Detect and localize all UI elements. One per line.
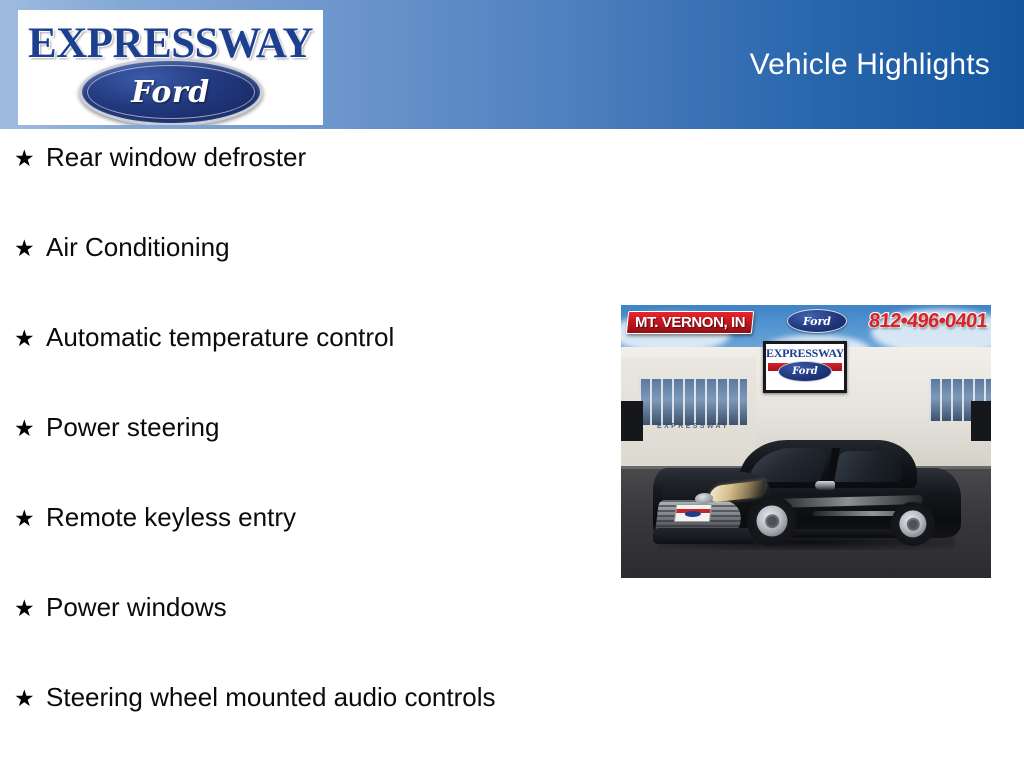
star-bullet-icon: ★ bbox=[14, 597, 46, 620]
photo-phone-number: 812•496•0401 bbox=[868, 310, 988, 333]
feature-label: Steering wheel mounted audio controls bbox=[46, 684, 496, 710]
photo-vehicle-car bbox=[653, 428, 961, 546]
photo-city-banner: MT. VERNON, IN bbox=[626, 311, 755, 334]
page-title: Vehicle Highlights bbox=[750, 48, 990, 82]
photo-roof-ford-oval-icon: Ford bbox=[787, 309, 847, 333]
ford-oval-label: Ford bbox=[82, 61, 260, 123]
car-license-plate bbox=[674, 504, 712, 522]
car-front-rim bbox=[757, 506, 788, 537]
car-rocker-panel bbox=[777, 529, 899, 538]
photo-building-doorway bbox=[971, 401, 991, 441]
car-rear-window bbox=[833, 451, 905, 482]
photo-window-mullions bbox=[639, 379, 747, 425]
feature-label: Remote keyless entry bbox=[46, 504, 296, 530]
vehicle-highlights-list: ★ Rear window defroster ★ Air Conditioni… bbox=[0, 144, 620, 774]
feature-label: Rear window defroster bbox=[46, 144, 306, 170]
list-item: ★ Power steering bbox=[0, 414, 620, 504]
car-rear-rim bbox=[899, 510, 926, 537]
star-bullet-icon: ★ bbox=[14, 687, 46, 710]
photo-dealer-sign-ford-oval-icon: Ford bbox=[778, 361, 832, 382]
feature-label: Power steering bbox=[46, 414, 219, 440]
photo-building-doorway bbox=[621, 401, 643, 441]
vehicle-photo[interactable]: EXPRESSWAY Ford EXPRESSWAY Ford bbox=[621, 305, 991, 578]
photo-city-banner-label: MT. VERNON, IN bbox=[635, 314, 745, 331]
ford-oval-icon: Ford bbox=[79, 58, 263, 125]
photo-dealer-sign-ford-label: Ford bbox=[779, 362, 831, 381]
list-item: ★ Automatic temperature control bbox=[0, 324, 620, 414]
photo-dealer-sign: EXPRESSWAY Ford bbox=[763, 341, 847, 393]
car-front-wheel bbox=[747, 496, 797, 546]
star-bullet-icon: ★ bbox=[14, 147, 46, 170]
star-bullet-icon: ★ bbox=[14, 507, 46, 530]
star-bullet-icon: ★ bbox=[14, 327, 46, 350]
list-item: ★ Power windows bbox=[0, 594, 620, 684]
dealer-logo[interactable]: EXPRESSWAY Ford bbox=[18, 10, 323, 125]
car-rear-wheel bbox=[891, 502, 935, 546]
list-item: ★ Air Conditioning bbox=[0, 234, 620, 324]
feature-label: Air Conditioning bbox=[46, 234, 230, 260]
car-side-mirror bbox=[815, 481, 835, 490]
photo-building-windows bbox=[639, 379, 747, 425]
photo-roof-ford-label: Ford bbox=[788, 310, 846, 332]
dealer-logo-artwork: EXPRESSWAY Ford bbox=[18, 10, 323, 125]
slide-canvas: Vehicle Highlights EXPRESSWAY Ford ★ Rea… bbox=[0, 0, 1024, 768]
star-bullet-icon: ★ bbox=[14, 417, 46, 440]
photo-dealer-sign-wordmark: EXPRESSWAY bbox=[766, 346, 844, 361]
feature-label: Power windows bbox=[46, 594, 227, 620]
car-front-bumper bbox=[653, 528, 757, 544]
list-item: ★ Remote keyless entry bbox=[0, 504, 620, 594]
list-item: ★ Steering wheel mounted audio controls bbox=[0, 684, 620, 774]
list-item: ★ Rear window defroster bbox=[0, 144, 620, 234]
feature-label: Automatic temperature control bbox=[46, 324, 394, 350]
star-bullet-icon: ★ bbox=[14, 237, 46, 260]
